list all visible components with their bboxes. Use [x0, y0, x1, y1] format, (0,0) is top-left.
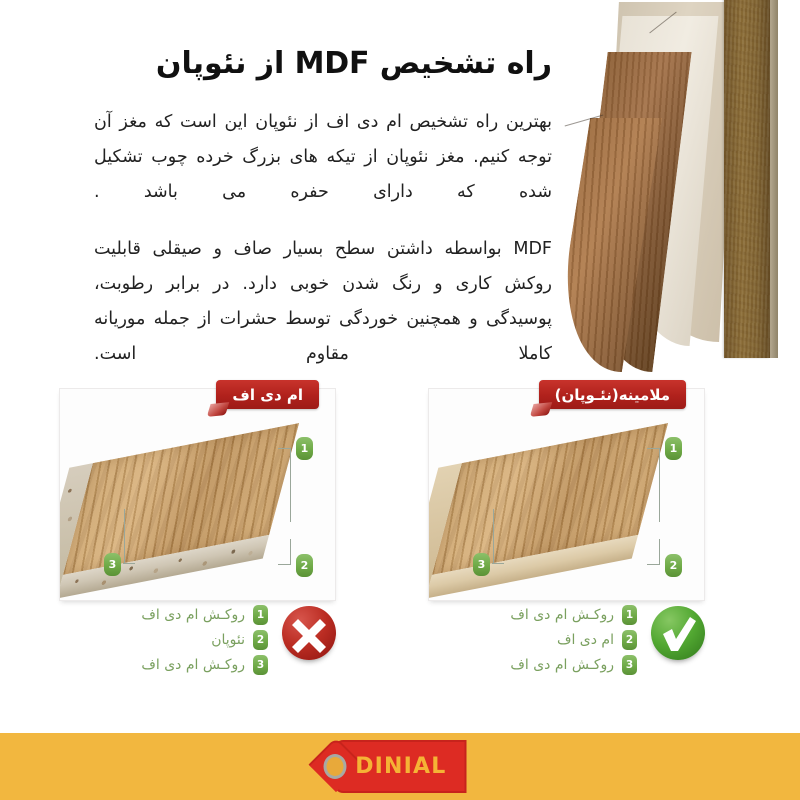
legend-label: روکـش ام دی اف — [141, 607, 245, 623]
list-item: 1 روکـش ام دی اف — [430, 602, 637, 627]
neopan-ribbon-label: ملامینه(نئـوپان) — [539, 380, 686, 409]
mdf-leader-2-horizontal — [647, 564, 660, 566]
comparison-section: 1 2 3 ملامینه(نئـوپان) 1 2 3 — [0, 372, 800, 692]
neopan-legend-list: 1 روکـش ام دی اف 2 نئوپان 3 روکـش ام دی … — [61, 600, 268, 677]
list-item: 3 روکـش ام دی اف — [430, 652, 637, 677]
neopan-leader-3-vertical — [123, 509, 125, 563]
neopan-leader-1-vertical — [289, 448, 291, 522]
mdf-panel-card: 1 2 3 — [428, 388, 705, 601]
legend-label: نئوپان — [211, 632, 245, 648]
mdf-ribbon-label: ام دی اف — [216, 380, 319, 409]
page-title: راه تشخیص MDF از نئوپان — [94, 44, 552, 85]
neopan-leader-2-horizontal — [278, 564, 291, 566]
article-body: راه تشخیص MDF از نئوپان بهترین راه تشخیص… — [94, 44, 552, 372]
tag-hole-icon — [323, 754, 346, 779]
legend-label: ام دی اف — [557, 632, 614, 648]
legend-label: روکـش ام دی اف — [510, 657, 614, 673]
mdf-legend: 1 روکـش ام دی اف 2 ام دی اف 3 روکـش ام د… — [430, 600, 705, 677]
mdf-pin-3: 3 — [473, 553, 490, 576]
mdf-pin-2: 2 — [665, 554, 682, 577]
legend-label: روکـش ام دی اف — [510, 607, 614, 623]
hero-panel-photo — [560, 0, 800, 372]
panel-edge-strip — [769, 0, 778, 358]
cross-icon — [282, 606, 336, 660]
list-item: 2 ام دی اف — [430, 627, 637, 652]
article-paragraph-1: بهترین راه تشخیص ام دی اف از نئوپان این … — [94, 105, 552, 210]
neopan-leader-1-horizontal — [278, 448, 291, 450]
mdf-leader-3-vertical — [492, 509, 494, 563]
mdf-leader-1-horizontal — [647, 448, 660, 450]
list-item: 2 نئوپان — [61, 627, 268, 652]
legend-number-badge: 3 — [253, 655, 268, 675]
neopan-leader-3-horizontal — [123, 563, 135, 565]
brand-tag[interactable]: DINIAL — [334, 740, 467, 793]
neopan-panel-card: 1 2 3 — [59, 388, 336, 601]
neopan-pin-3: 3 — [104, 553, 121, 576]
mdf-legend-list: 1 روکـش ام دی اف 2 ام دی اف 3 روکـش ام د… — [430, 600, 637, 677]
mdf-leader-2-vertical — [658, 539, 660, 564]
mdf-pin-1: 1 — [665, 437, 682, 460]
legend-label: روکـش ام دی اف — [141, 657, 245, 673]
neopan-pin-2: 2 — [296, 554, 313, 577]
neopan-leader-2-vertical — [289, 539, 291, 564]
neopan-pin-1: 1 — [296, 437, 313, 460]
mdf-board — [432, 423, 668, 575]
footer-bar: DINIAL — [0, 733, 800, 800]
list-item: 3 روکـش ام دی اف — [61, 652, 268, 677]
neopan-legend: 1 روکـش ام دی اف 2 نئوپان 3 روکـش ام دی … — [61, 600, 336, 677]
mdf-leader-3-horizontal — [492, 563, 504, 565]
mdf-board-illustration: 1 2 3 — [429, 389, 704, 600]
legend-number-badge: 2 — [622, 630, 637, 650]
article-paragraph-2: MDF بواسطه داشتن سطح بسیار صاف و صیقلی ق… — [94, 232, 552, 372]
neopan-board-illustration: 1 2 3 — [60, 389, 335, 600]
mdf-core-board — [724, 0, 770, 358]
legend-number-badge: 1 — [622, 605, 637, 625]
legend-number-badge: 1 — [253, 605, 268, 625]
check-icon — [651, 606, 705, 660]
legend-number-badge: 3 — [622, 655, 637, 675]
mdf-leader-1-vertical — [658, 448, 660, 522]
list-item: 1 روکـش ام دی اف — [61, 602, 268, 627]
brand-name: DINIAL — [355, 754, 446, 779]
neopan-board — [63, 423, 299, 575]
legend-number-badge: 2 — [253, 630, 268, 650]
